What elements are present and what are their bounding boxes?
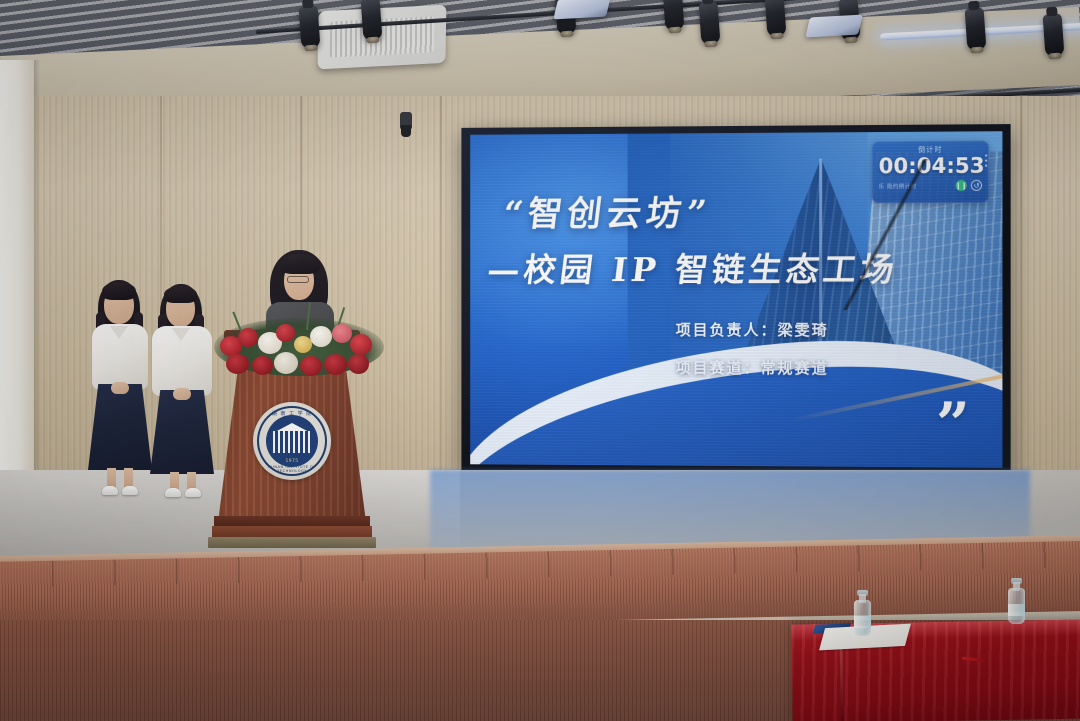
panel-light [553,0,610,19]
shoe [165,488,181,497]
countdown-timer-footer: 乐 简约倒计时 ❙❙ ↺ [879,180,982,192]
led-screen: “智创云坊” —校园 IP 智链生态工场 项目负责人：梁雯琦 项目赛道：常规赛道… [470,131,1002,468]
podium-base-plinth [208,537,376,548]
tablecloth-fold [839,640,843,721]
leg [124,468,133,488]
shoe [122,486,138,495]
countdown-timer-controls: ❙❙ ↺ [956,180,982,191]
student-right [150,282,220,508]
leg [107,468,116,488]
flower-red [350,334,372,355]
wall-seam [440,96,442,516]
wall-seam [1020,96,1022,516]
stage-spotlight [965,7,987,50]
camera-icon [400,112,412,130]
flower-white [310,326,332,347]
shoe [102,486,118,495]
bottle-label [1008,604,1025,616]
collar [172,328,190,341]
stage-spotlight [663,0,685,31]
stage-spotlight [1043,13,1065,56]
flower-white [274,352,298,374]
hands [173,388,191,400]
hair-fringe [280,254,320,274]
quotation-mark-icon: ” [936,409,972,441]
flower-red [300,356,322,376]
panel-light [805,15,862,38]
bottle-label [854,616,871,628]
pause-button[interactable]: ❙❙ [956,180,967,191]
flower-red [226,354,249,374]
flower-red [276,324,295,342]
emblem-building-icon [273,431,311,453]
student-left [88,278,158,506]
flower-arrangement [214,300,384,380]
flower-red [324,354,347,375]
emblem-center: 1975 [266,415,318,467]
reset-button[interactable]: ↺ [971,180,982,191]
collar [110,326,128,339]
stage-spotlight [765,0,787,37]
flower-red [252,356,273,375]
emblem-arc-bottom-text: HUNAN INSTITUTE OF TECHNOLOGY [253,465,331,473]
stage-spotlight [699,1,721,44]
glasses [287,276,309,283]
slide-title: “智创云坊” [500,184,925,236]
emblem-year: 1975 [266,459,318,464]
slide-project-leader: 项目负责人：梁雯琦 [588,319,918,340]
flower-red [238,328,258,347]
flower-pink [332,324,352,343]
skirt [88,384,152,470]
skirt [150,390,214,474]
more-options-icon[interactable] [985,155,987,167]
countdown-timer-widget[interactable]: 倒计时 00:04:53 乐 简约倒计时 ❙❙ ↺ [872,140,990,203]
countdown-timer-value: 00:04:53 [879,155,982,178]
slide-project-track: 项目赛道：常规赛道 [588,357,918,379]
hands [111,382,129,394]
led-screen-bezel: “智创云坊” —校园 IP 智链生态工场 项目负责人：梁雯琦 项目赛道：常规赛道… [461,124,1010,476]
slide-subtitle: —校园 IP 智链生态工场 [485,242,1000,291]
shoe [185,488,201,497]
stage-spotlight [361,0,383,41]
stage-presentation-photo: “智创云坊” —校园 IP 智链生态工场 项目负责人：梁雯琦 项目赛道：常规赛道… [0,0,1080,721]
hair-fringe [164,286,197,303]
countdown-timer-brand: 乐 简约倒计时 [879,182,917,190]
university-emblem: 湖 南 工 学 院 1975 HUNAN INSTITUTE OF TECHNO… [253,402,331,480]
stage-spotlight [299,5,321,48]
flower-red [348,354,369,374]
hair-fringe [102,282,136,300]
air-conditioner-unit [318,5,447,70]
